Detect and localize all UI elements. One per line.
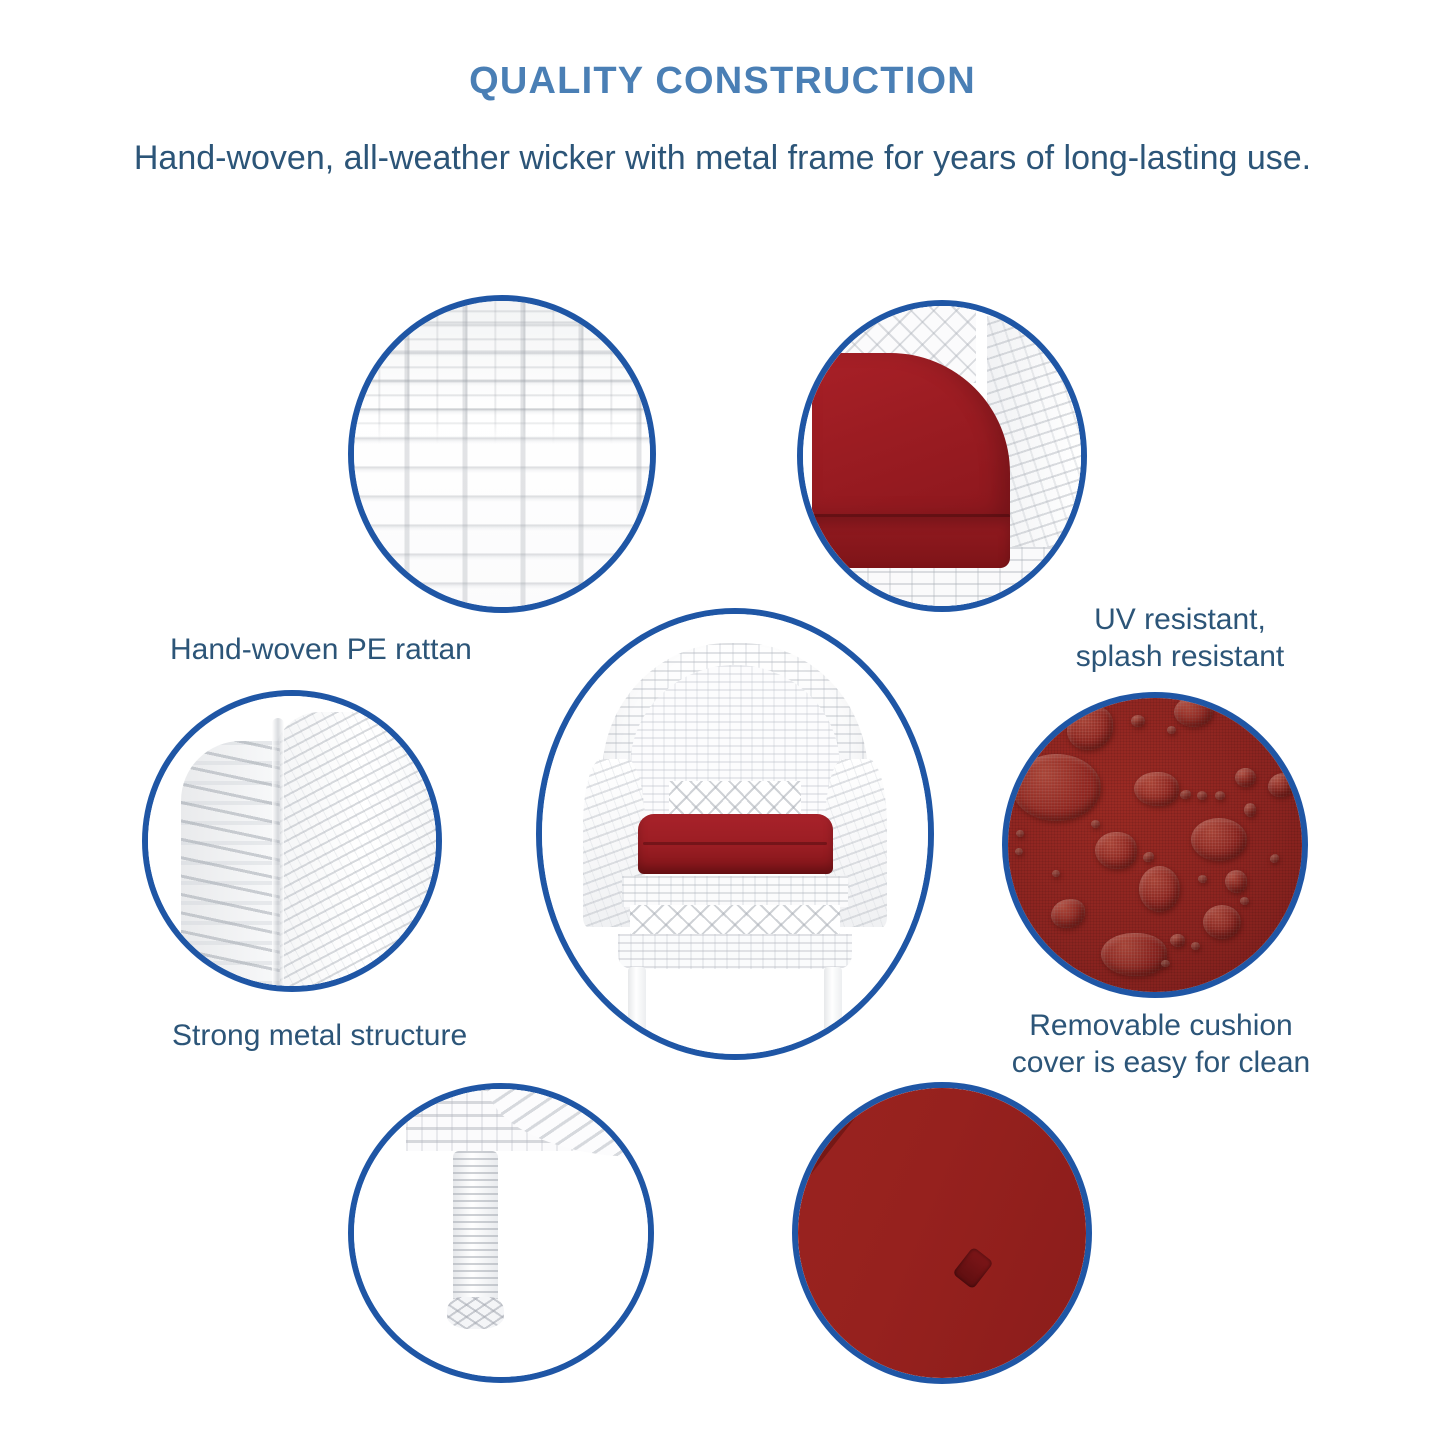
droplet-field: [1006, 696, 1304, 994]
feature-circle-hand-woven-pe-rattan: [348, 295, 656, 613]
feature-collage: Hand-woven PE rattan UV resistant, splas…: [0, 0, 1445, 1445]
water-droplet: [1244, 803, 1256, 816]
water-droplet: [1067, 706, 1113, 749]
water-droplet: [1191, 818, 1248, 861]
water-droplet: [1095, 832, 1137, 869]
art-wicker-chair-leg: [352, 1087, 650, 1379]
water-droplet: [1161, 960, 1170, 968]
water-droplet: [1012, 754, 1101, 821]
water-droplet: [1091, 820, 1100, 828]
water-droplet: [1139, 866, 1181, 912]
caption-hand-woven-pe-rattan: Hand-woven PE rattan: [170, 632, 590, 669]
water-droplet: [1180, 790, 1190, 799]
water-droplet: [1143, 852, 1153, 862]
art-red-cushion-corner: [801, 304, 1083, 608]
water-droplet: [1225, 870, 1247, 892]
caption-strong-metal-structure: Strong metal structure: [172, 1018, 592, 1055]
water-droplet: [1015, 848, 1023, 855]
water-droplet: [1174, 697, 1213, 727]
caption-removable-cushion-cover: Removable cushion cover is easy for clea…: [985, 1008, 1337, 1081]
art-white-pe-rattan-weave: [352, 299, 652, 609]
art-woven-corner-block: [146, 694, 438, 988]
feature-circle-removable-cushion-cover: [1002, 692, 1308, 998]
water-droplet: [1131, 715, 1144, 727]
art-water-droplets-on-red-fabric: [1006, 696, 1304, 994]
water-droplet: [1016, 830, 1024, 837]
water-droplet: [1167, 726, 1176, 734]
caption-uv-splash-resistant: UV resistant, splash resistant: [1010, 602, 1350, 675]
water-droplet: [1051, 899, 1085, 929]
water-droplet: [1170, 934, 1185, 947]
water-droplet: [1198, 875, 1207, 883]
water-droplet: [1203, 905, 1242, 939]
water-droplet: [1197, 791, 1207, 800]
hero-circle-wicker-armchair: [536, 608, 934, 1060]
water-droplet: [1235, 768, 1256, 787]
detail-circle-chair-leg: [348, 1083, 654, 1383]
detail-circle-cushion-zipper: [792, 1082, 1092, 1384]
art-cushion-zipper: [796, 1086, 1088, 1380]
water-droplet: [1270, 854, 1280, 863]
water-droplet: [1268, 773, 1295, 797]
feature-circle-strong-metal-structure: [142, 690, 442, 992]
water-droplet: [1215, 791, 1225, 800]
water-droplet: [1101, 933, 1167, 976]
water-droplet: [1134, 772, 1179, 806]
water-droplet: [1191, 942, 1200, 950]
art-white-wicker-armchair: [540, 612, 930, 1056]
water-droplet: [1052, 870, 1060, 877]
water-droplet: [1240, 897, 1249, 905]
feature-circle-uv-splash-resistant: [797, 300, 1087, 612]
